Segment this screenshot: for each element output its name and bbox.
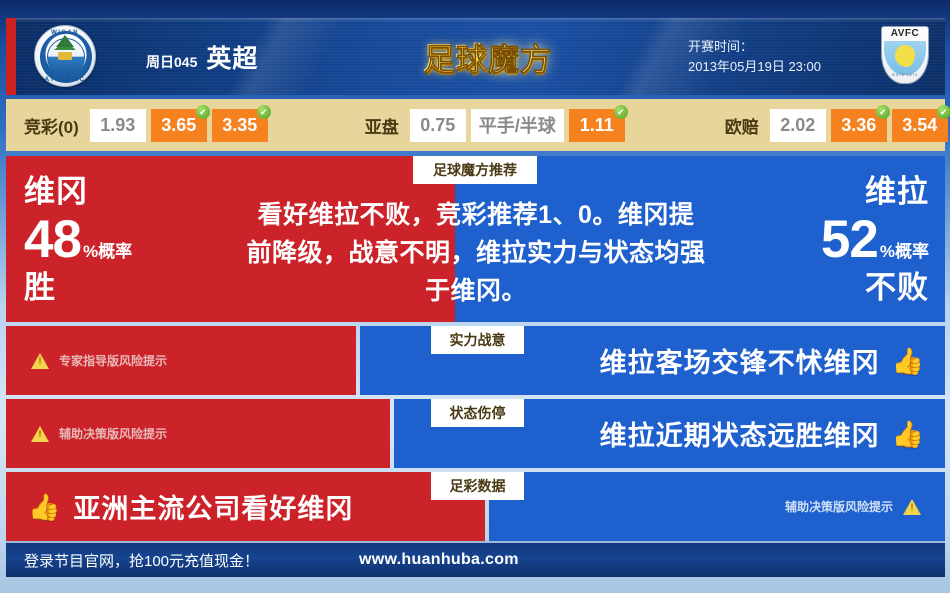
crest-top-text: WIGAN [35,30,95,36]
away-probability-value: 52 %概率 [821,213,929,266]
footer-bar: 登录节目官网，抢100元充值现金！ www.huanhuba.com [6,541,945,577]
kickoff-info: 开赛时间： 2013年05月19日 23:00 [688,37,821,77]
lion-icon [895,45,915,67]
kickoff-time: 2013年05月19日 23:00 [688,57,821,77]
odds-group-3: 欧赔2.023.36✔3.54✔ [725,109,950,142]
home-team-crest-icon[interactable]: WIGAN ATHLETIC [34,25,96,87]
tree-icon-upper [56,35,74,47]
odds-group-label: 竞彩(0) [24,113,79,138]
footer-promo-text: 登录节目官网，抢100元充值现金！ [24,550,259,571]
row-away-statement-text: 维拉近期状态远胜维冈 [600,414,880,453]
row-home-risk-note: 专家指导版风险提示 [31,352,167,369]
odds-bar: 竞彩(0)1.933.65✔3.35✔亚盘0.75平手/半球1.11✔欧赔2.0… [6,99,945,151]
row-away-risk-note-text: 辅助决策版风险提示 [785,498,893,515]
recommendation-ribbon: 足球魔方推荐 [413,156,537,184]
row-home-bar: 专家指导版风险提示 [6,326,356,395]
comparison-row: 👍亚洲主流公司看好维冈辅助决策版风险提示足彩数据 [6,472,945,541]
check-icon: ✔ [614,105,628,119]
away-team-name: 维拉 [821,176,929,207]
thumbs-up-icon: 👍 [28,494,61,520]
row-away-statement: 维拉客场交锋不怵维冈👍 [600,341,925,380]
comparison-rows: 专家指导版风险提示维拉客场交锋不怵维冈👍实力战意辅助决策版风险提示维拉近期状态远… [6,326,945,545]
home-probability-value: 48 %概率 [24,213,132,266]
warning-icon [903,499,921,515]
check-icon: ✔ [937,105,950,119]
brand-logo: 足球魔方 [424,34,552,79]
header-body: WIGAN ATHLETIC 周日045 英超 足球魔方 开赛时间： 2013年… [16,18,945,95]
home-probability-block: 维冈 48 %概率 胜 [24,176,132,303]
odds-cell-3-3[interactable]: 3.54✔ [892,109,948,142]
home-probability-unit: %概率 [83,243,132,260]
comparison-row: 专家指导版风险提示维拉客场交锋不怵维冈👍实力战意 [6,326,945,395]
check-icon: ✔ [257,105,271,119]
away-probability-unit: %概率 [880,243,929,260]
row-category-tag: 状态伤停 [431,399,524,427]
warning-icon [31,426,49,442]
row-home-risk-note-text: 辅助决策版风险提示 [59,425,167,442]
odds-cell-1-1[interactable]: 1.93 [90,109,146,142]
away-crest-abbr: AVFC [881,28,929,39]
odds-group-2: 亚盘0.75平手/半球1.11✔ [365,109,630,142]
brand-text-part2: 魔方 [488,42,552,77]
row-home-bar: 辅助决策版风险提示 [6,399,390,468]
match-title: 周日045 英超 [146,39,258,75]
row-home-risk-note: 辅助决策版风险提示 [31,425,167,442]
odds-cell-2-2[interactable]: 平手/半球 [471,109,564,142]
away-team-crest-icon[interactable]: AVFC ESTD 1874 [881,26,929,84]
crest-bottom-text: ATHLETIC [35,77,95,83]
away-crest-est: ESTD 1874 [881,72,929,77]
kickoff-label: 开赛时间： [688,37,821,57]
prediction-panel: 维冈 48 %概率 胜 维拉 52 %概率 不败 足球魔方推荐 看好维拉不败，竞… [6,156,945,322]
odds-group-1: 竞彩(0)1.933.65✔3.35✔ [24,109,273,142]
thumbs-up-icon: 👍 [892,421,925,447]
warning-icon [31,353,49,369]
row-away-statement: 维拉近期状态远胜维冈👍 [600,414,925,453]
check-icon: ✔ [876,105,890,119]
header-accent-strip [6,18,16,95]
row-home-statement-text: 亚洲主流公司看好维冈 [73,487,353,526]
home-team-name: 维冈 [24,176,132,207]
thumbs-up-icon: 👍 [892,348,925,374]
home-probability-number: 48 [24,213,81,266]
row-category-tag: 足彩数据 [431,472,524,500]
check-icon: ✔ [196,105,210,119]
crown-icon [58,52,72,60]
row-away-bar: 辅助决策版风险提示 [489,472,945,541]
row-home-risk-note-text: 专家指导版风险提示 [59,352,167,369]
row-away-statement-text: 维拉客场交锋不怵维冈 [600,341,880,380]
comparison-row: 辅助决策版风险提示维拉近期状态远胜维冈👍状态伤停 [6,399,945,468]
match-header: WIGAN ATHLETIC 周日045 英超 足球魔方 开赛时间： 2013年… [6,18,945,95]
odds-cell-3-2[interactable]: 3.36✔ [831,109,887,142]
odds-cell-2-3[interactable]: 1.11✔ [569,109,625,142]
row-home-statement: 👍亚洲主流公司看好维冈 [28,487,353,526]
odds-cell-1-3[interactable]: 3.35✔ [212,109,268,142]
row-away-risk-note: 辅助决策版风险提示 [785,498,921,515]
row-home-bar: 👍亚洲主流公司看好维冈 [6,472,485,541]
odds-group-label: 欧赔 [725,113,759,138]
footer-website-url[interactable]: www.huanhuba.com [359,551,519,569]
away-probability-block: 维拉 52 %概率 不败 [821,176,929,303]
away-probability-number: 52 [821,213,878,266]
brand-text-part1: 足球 [424,42,488,77]
odds-group-label: 亚盘 [365,113,399,138]
odds-cell-2-1[interactable]: 0.75 [410,109,466,142]
odds-cell-1-2[interactable]: 3.65✔ [151,109,207,142]
odds-cell-3-1[interactable]: 2.02 [770,109,826,142]
away-outcome-label: 不败 [821,272,929,303]
home-outcome-label: 胜 [24,272,132,303]
recommendation-text: 看好维拉不败，竞彩推荐1、0。维冈提前降级，战意不明，维拉实力与状态均强于维冈。 [246,196,706,310]
row-category-tag: 实力战意 [431,326,524,354]
league-name: 英超 [206,39,258,75]
match-number: 周日045 [146,52,197,72]
